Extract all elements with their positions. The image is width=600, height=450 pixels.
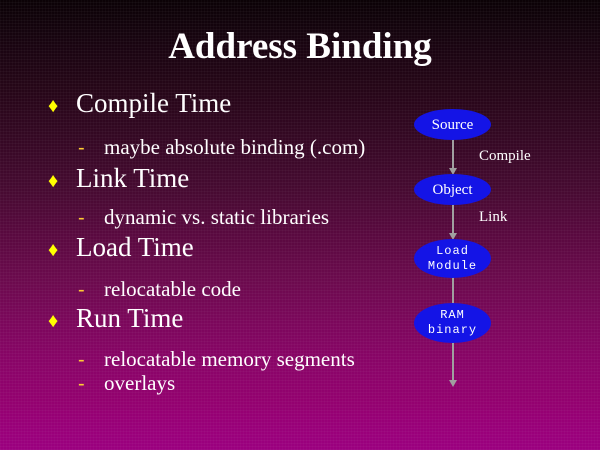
diagram-node-label: Object — [433, 182, 473, 198]
dash-bullet-icon: - — [78, 208, 104, 229]
slide-canvas: Address Binding ♦ Compile Time - maybe a… — [0, 0, 600, 450]
diagram-node-label: Source — [432, 117, 474, 133]
page-title: Address Binding — [0, 26, 600, 68]
diagram-node-load-module[interactable]: Load Module — [415, 240, 490, 277]
dash-bullet-icon: - — [78, 374, 104, 395]
address-binding-flow-diagram: Source Object Load Module RAM binary Com… — [405, 100, 600, 400]
sub-bullet-label: relocatable code — [104, 279, 241, 300]
arrowhead-icon — [449, 168, 457, 175]
bullet-item-load-time: ♦ Load Time — [48, 234, 194, 264]
sub-bullet-item-relocatable-code: - relocatable code — [78, 279, 241, 301]
bullet-item-compile-time: ♦ Compile Time — [48, 90, 231, 120]
edge-label-compile: Compile — [479, 148, 531, 165]
bullet-item-run-time: ♦ Run Time — [48, 305, 183, 335]
sub-bullet-label: dynamic vs. static libraries — [104, 207, 329, 228]
sub-bullet-item-absolute-binding: - maybe absolute binding (.com) — [78, 137, 365, 159]
dash-bullet-icon: - — [78, 280, 104, 301]
diamond-bullet-icon: ♦ — [48, 308, 76, 335]
diagram-node-label-line2: binary — [428, 323, 477, 338]
diagram-node-source[interactable]: Source — [415, 110, 490, 139]
arrow-shaft — [452, 204, 454, 233]
sub-bullet-label: overlays — [104, 373, 175, 394]
sub-bullet-item-overlays: - overlays — [78, 373, 175, 395]
sub-bullet-item-memory-segments: - relocatable memory segments — [78, 349, 355, 371]
bullet-item-link-time: ♦ Link Time — [48, 165, 189, 195]
dash-bullet-icon: - — [78, 138, 104, 159]
sub-bullet-label: relocatable memory segments — [104, 349, 355, 370]
bullet-label: Compile Time — [76, 90, 231, 117]
arrow-shaft — [452, 139, 454, 168]
diagram-node-object[interactable]: Object — [415, 175, 490, 204]
sub-bullet-label: maybe absolute binding (.com) — [104, 137, 365, 158]
diamond-bullet-icon: ♦ — [48, 237, 76, 264]
arrow-shaft — [452, 342, 454, 380]
diagram-node-label-line1: RAM — [440, 308, 465, 323]
diamond-bullet-icon: ♦ — [48, 93, 76, 120]
bullet-label: Link Time — [76, 165, 189, 192]
arrowhead-icon — [449, 233, 457, 240]
bullet-label: Load Time — [76, 234, 194, 261]
diagram-node-label-line1: Load — [436, 244, 469, 259]
diagram-node-ram-binary[interactable]: RAM binary — [415, 304, 490, 342]
arrowhead-icon — [449, 380, 457, 387]
diamond-bullet-icon: ♦ — [48, 168, 76, 195]
sub-bullet-item-dynamic-static: - dynamic vs. static libraries — [78, 207, 329, 229]
bullet-label: Run Time — [76, 305, 183, 332]
diagram-node-label-line2: Module — [428, 259, 477, 274]
edge-label-link: Link — [479, 209, 507, 226]
dash-bullet-icon: - — [78, 350, 104, 371]
arrow-shaft — [452, 277, 454, 304]
